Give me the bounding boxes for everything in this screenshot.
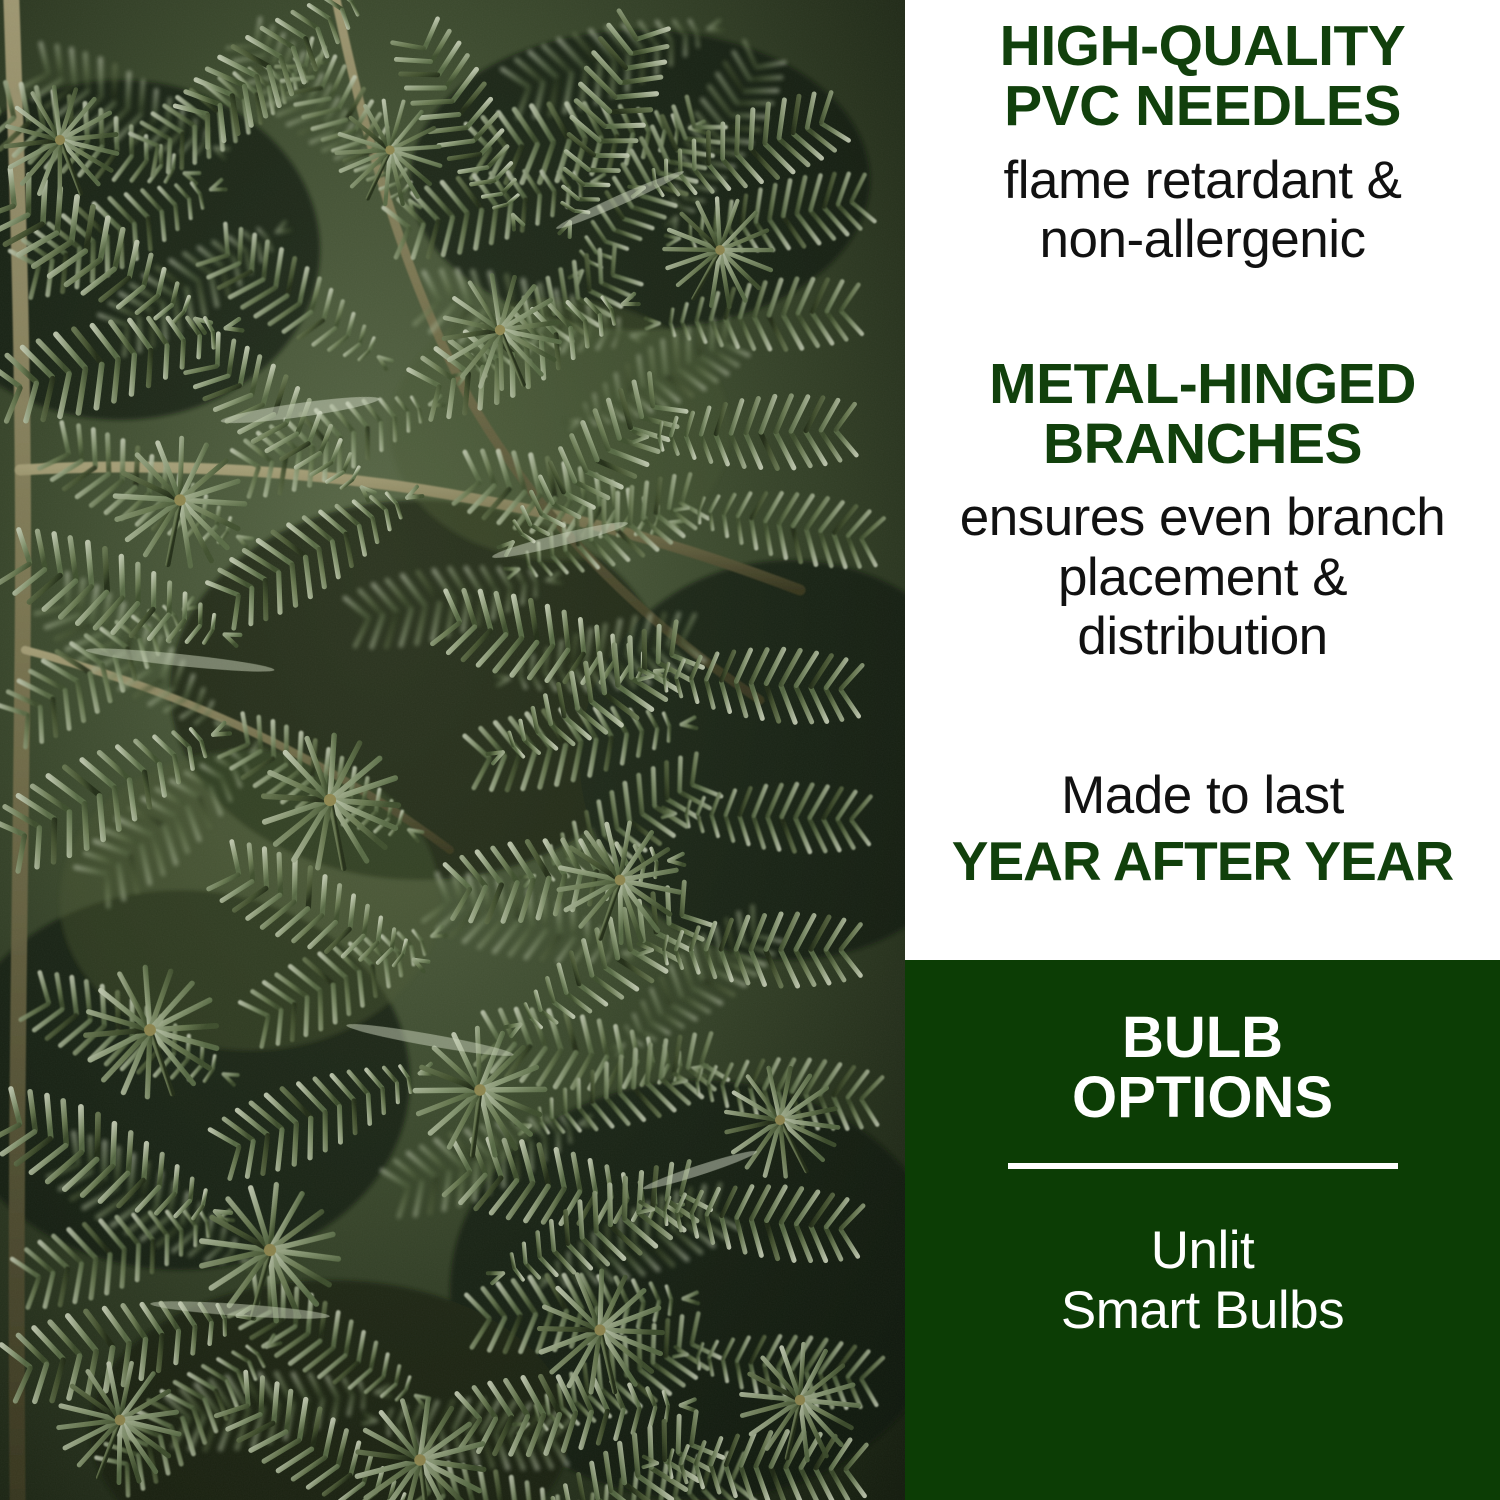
feature-description-metal-hinged-branches: ensures even branch placement & distribu… <box>913 488 1492 666</box>
feature-block-made-to-last: Made to last YEAR AFTER YEAR <box>913 766 1492 890</box>
feature-list: HIGH-QUALITY PVC NEEDLES flame retardant… <box>905 0 1500 960</box>
feature-title-pvc-needles: HIGH-QUALITY PVC NEEDLES <box>913 16 1492 137</box>
feature-block-pvc-needles: HIGH-QUALITY PVC NEEDLES flame retardant… <box>913 16 1492 270</box>
bulb-options-list: Unlit Smart Bulbs <box>913 1221 1492 1342</box>
feature-title-metal-hinged-branches: METAL-HINGED BRANCHES <box>913 354 1492 475</box>
feature-description-made-to-last: Made to last <box>913 766 1492 825</box>
bulb-options-title: BULB OPTIONS <box>913 1008 1492 1129</box>
bulb-options-divider <box>1008 1163 1398 1169</box>
infographic-page: HIGH-QUALITY PVC NEEDLES flame retardant… <box>0 0 1500 1500</box>
feature-panel: HIGH-QUALITY PVC NEEDLES flame retardant… <box>905 0 1500 1500</box>
feature-block-metal-hinged-branches: METAL-HINGED BRANCHES ensures even branc… <box>913 354 1492 667</box>
product-photo <box>0 0 905 1500</box>
feature-description-pvc-needles: flame retardant & non-allergenic <box>913 151 1492 270</box>
pine-branch-photo-illustration <box>0 0 905 1500</box>
bulb-options-panel: BULB OPTIONS Unlit Smart Bulbs <box>905 960 1500 1500</box>
feature-title-year-after-year: YEAR AFTER YEAR <box>913 832 1492 890</box>
